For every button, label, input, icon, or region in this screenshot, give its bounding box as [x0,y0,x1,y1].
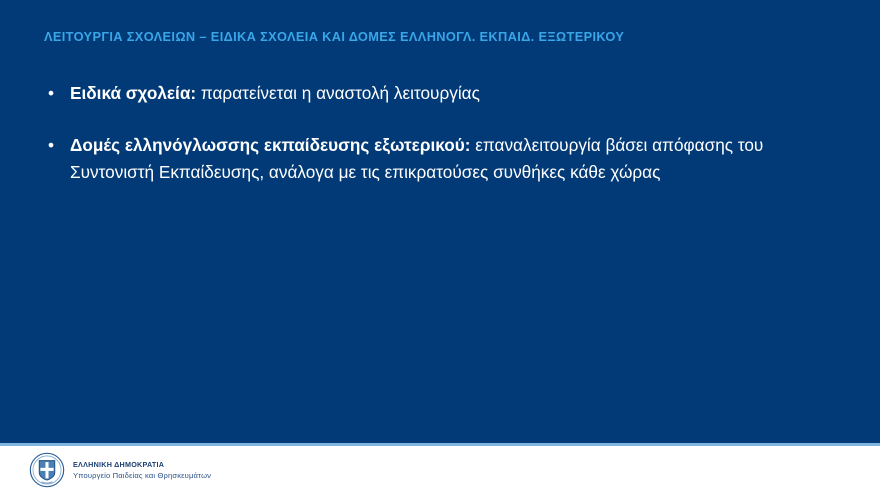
footer-branding: ΕΛΛΗΝΙΚΗ ΔΗΜΟΚΡΑΤΙΑ Υπουργείο Παιδείας κ… [29,452,211,488]
bullet-marker-icon: • [48,80,54,106]
bullet-lead-label: Δομές ελληνόγλωσσης εκπαίδευσης εξωτερικ… [70,135,470,155]
footer-organization-label: ΕΛΛΗΝΙΚΗ ΔΗΜΟΚΡΑΤΙΑ [73,460,211,469]
greek-coat-of-arms-icon [29,452,65,488]
slide-canvas: ΛΕΙΤΟΥΡΓΙΑ ΣΧΟΛΕΙΩΝ – ΕΙΔΙΚΑ ΣΧΟΛΕΙΑ ΚΑΙ… [0,0,880,495]
page-title: ΛΕΙΤΟΥΡΓΙΑ ΣΧΟΛΕΙΩΝ – ΕΙΔΙΚΑ ΣΧΟΛΕΙΑ ΚΑΙ… [44,29,844,44]
bullet-lead-label: Ειδικά σχολεία: [70,83,196,103]
list-item: • Ειδικά σχολεία: παρατείνεται η αναστολ… [40,80,840,106]
bullet-list: • Ειδικά σχολεία: παρατείνεται η αναστολ… [40,80,840,185]
footer-ministry-label: Υπουργείο Παιδείας και Θρησκευμάτων [73,471,211,480]
bullet-body-text: παρατείνεται η αναστολή λειτουργίας [196,83,480,103]
list-item: • Δομές ελληνόγλωσσης εκπαίδευσης εξωτερ… [40,132,840,185]
footer-text-block: ΕΛΛΗΝΙΚΗ ΔΗΜΟΚΡΑΤΙΑ Υπουργείο Παιδείας κ… [73,460,211,480]
bullet-marker-icon: • [48,132,54,158]
